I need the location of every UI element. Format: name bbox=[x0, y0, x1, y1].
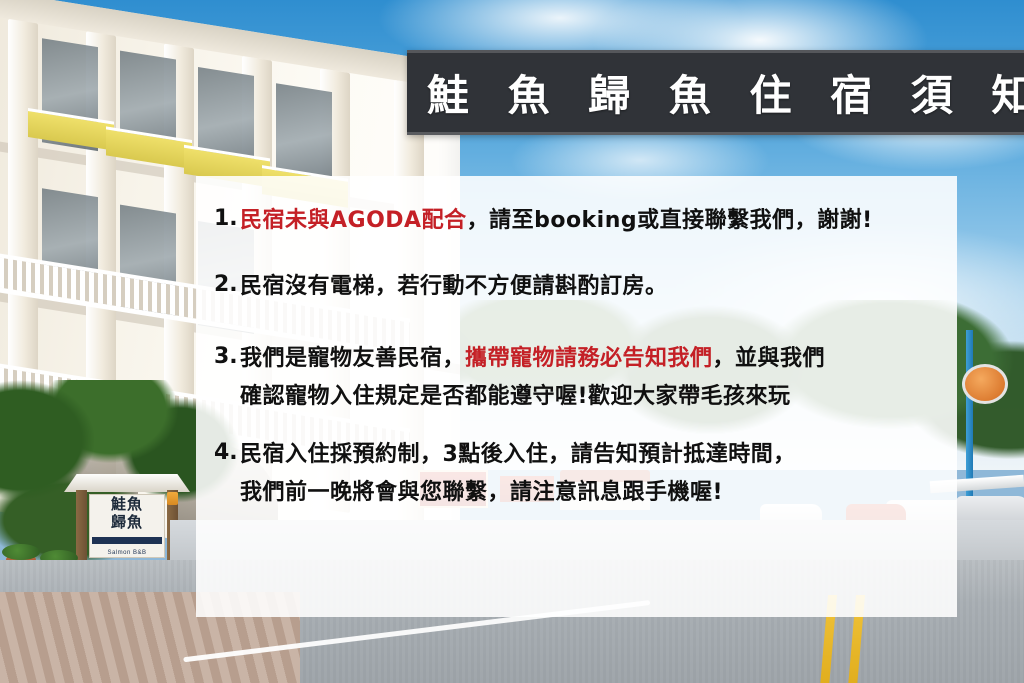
banner-top-rule bbox=[407, 50, 1024, 53]
signboard-english: Salmon B&B bbox=[90, 550, 164, 556]
signboard-kanji-line1: 鮭魚 bbox=[90, 497, 164, 513]
notice-text: 我們是寵物友善民宿，攜帶寵物請務必告知我們，並與我們確認寵物入住規定是否都能遵守… bbox=[240, 340, 943, 416]
banner-bottom-rule bbox=[407, 132, 1024, 135]
signboard-panel: 鮭魚 歸魚 Salmon B&B bbox=[89, 494, 165, 558]
notice-item: 3.我們是寵物友善民宿，攜帶寵物請務必告知我們，並與我們確認寵物入住規定是否都能… bbox=[214, 340, 943, 416]
notice-line: 確認寵物入住規定是否都能遵守喔!歡迎大家帶毛孩來玩 bbox=[240, 378, 943, 416]
notice-item: 1.民宿未與AGODA配合，請至booking或直接聯繫我們，謝謝! bbox=[214, 202, 943, 240]
notice-line: 民宿沒有電梯，若行動不方便請斟酌訂房。 bbox=[240, 268, 943, 306]
notice-line: 民宿未與AGODA配合，請至booking或直接聯繫我們，謝謝! bbox=[240, 202, 943, 240]
notice-span: 我們是寵物友善民宿， bbox=[240, 346, 465, 371]
notice-span: 民宿入住採預約制，3點後入住，請告知預計抵達時間， bbox=[240, 442, 796, 467]
notice-number: 1. bbox=[214, 202, 240, 236]
notice-line: 我們前一晚將會與您聯繫，請注意訊息跟手機喔! bbox=[240, 474, 943, 512]
notice-item: 4.民宿入住採預約制，3點後入住，請告知預計抵達時間，我們前一晚將會與您聯繫，請… bbox=[214, 436, 943, 512]
page-title: 鮭 魚 歸 魚 住 宿 須 知 bbox=[407, 62, 1024, 123]
notice-span: 我們前一晚將會與您聯繫，請注意訊息跟手機喔! bbox=[240, 480, 723, 505]
notice-span: 民宿沒有電梯，若行動不方便請斟酌訂房。 bbox=[240, 274, 668, 299]
notice-span: ，並與我們 bbox=[713, 346, 826, 371]
notice-item: 2.民宿沒有電梯，若行動不方便請斟酌訂房。 bbox=[214, 268, 943, 306]
notice-span: 確認寵物入住規定是否都能遵守喔!歡迎大家帶毛孩來玩 bbox=[240, 384, 791, 409]
traffic-mirror bbox=[962, 364, 1008, 404]
notice-line: 我們是寵物友善民宿，攜帶寵物請務必告知我們，並與我們 bbox=[240, 340, 943, 378]
signboard-post-left bbox=[76, 490, 87, 566]
notice-number: 4. bbox=[214, 436, 240, 470]
notice-panel: 1.民宿未與AGODA配合，請至booking或直接聯繫我們，謝謝!2.民宿沒有… bbox=[196, 176, 957, 617]
signboard-strip bbox=[92, 537, 162, 544]
notice-list: 1.民宿未與AGODA配合，請至booking或直接聯繫我們，謝謝!2.民宿沒有… bbox=[214, 202, 943, 528]
screenshot-root: 鮭魚 歸魚 Salmon B&B bbox=[0, 0, 1024, 683]
notice-line: 民宿入住採預約制，3點後入住，請告知預計抵達時間， bbox=[240, 436, 943, 474]
notice-span: ，請至booking或直接聯繫我們，謝謝! bbox=[467, 208, 873, 233]
notice-text: 民宿沒有電梯，若行動不方便請斟酌訂房。 bbox=[240, 268, 943, 306]
title-banner: 鮭 魚 歸 魚 住 宿 須 知 bbox=[407, 50, 1024, 135]
notice-highlight: 民宿未與AGODA配合 bbox=[240, 208, 467, 233]
lantern-icon bbox=[167, 492, 178, 505]
notice-number: 3. bbox=[214, 340, 240, 374]
notice-text: 民宿入住採預約制，3點後入住，請告知預計抵達時間，我們前一晚將會與您聯繫，請注意… bbox=[240, 436, 943, 512]
signboard-kanji-line2: 歸魚 bbox=[90, 515, 164, 531]
notice-text: 民宿未與AGODA配合，請至booking或直接聯繫我們，謝謝! bbox=[240, 202, 943, 240]
notice-highlight: 攜帶寵物請務必告知我們 bbox=[465, 346, 713, 371]
notice-number: 2. bbox=[214, 268, 240, 302]
